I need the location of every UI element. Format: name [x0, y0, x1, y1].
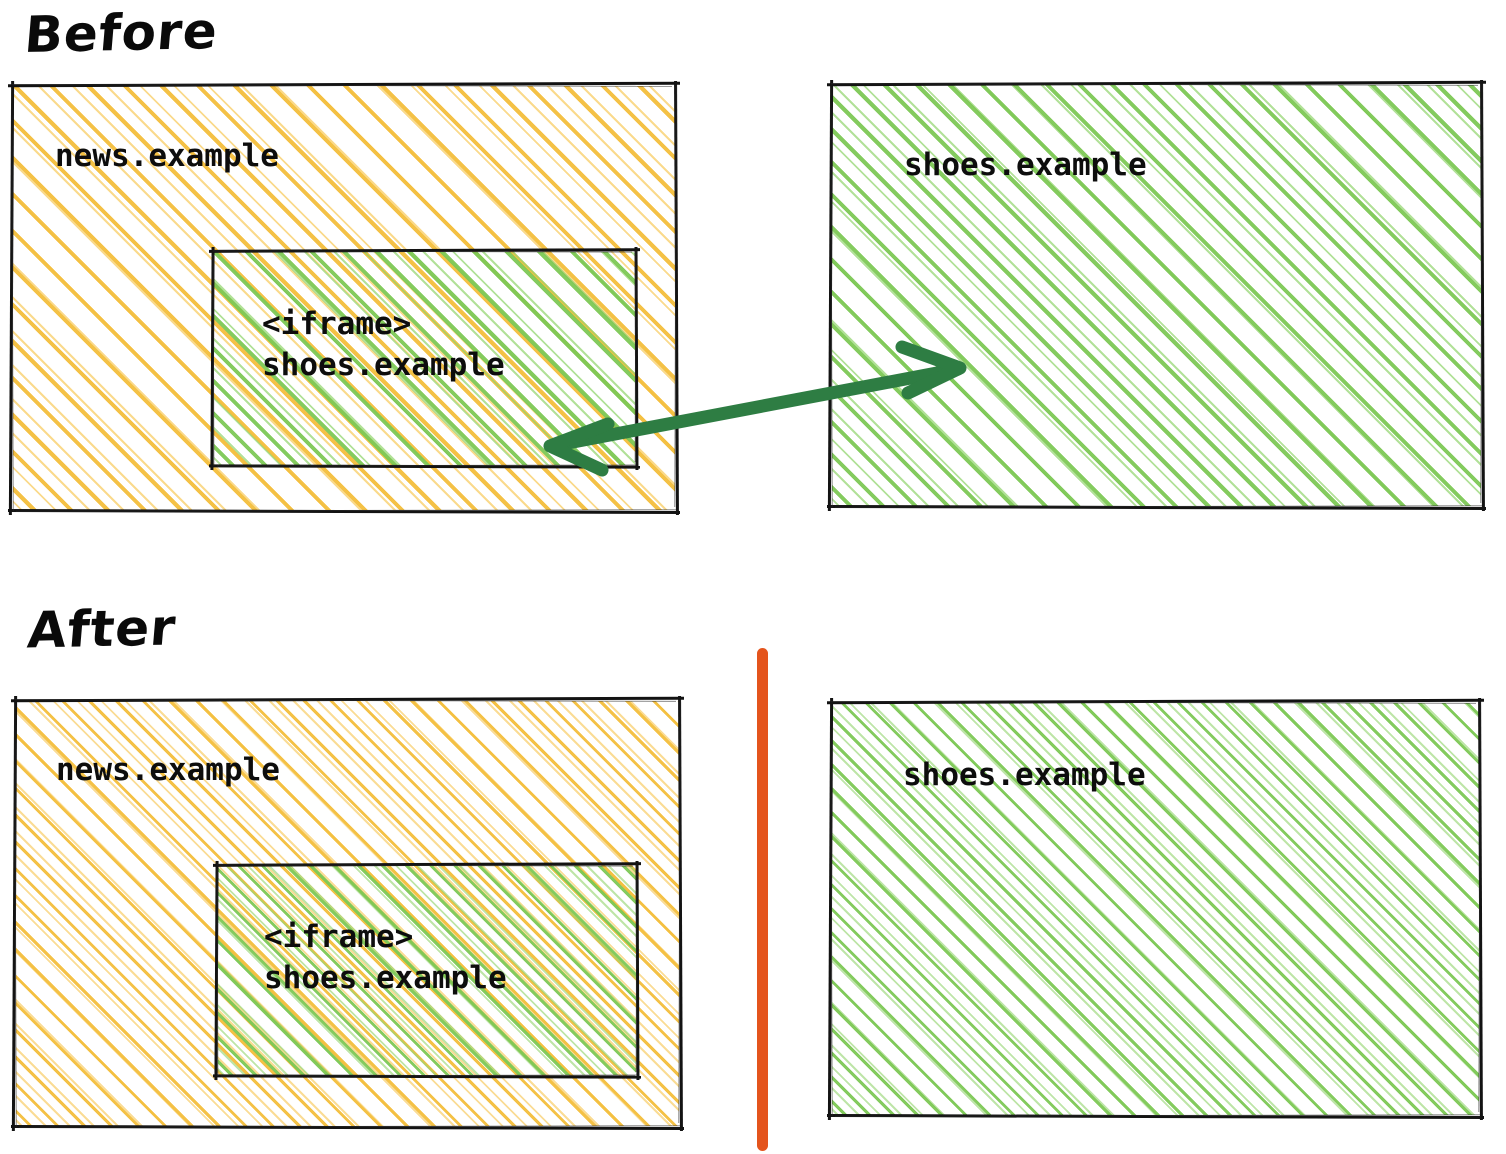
after-iframe-label: <iframe> shoes.example	[264, 917, 507, 999]
diagram-canvas: Before news.example <iframe> shoes.examp…	[0, 0, 1506, 1154]
before-news-example-label: news.example	[55, 136, 279, 177]
shared-storage-arrow-icon	[520, 330, 1000, 480]
before-shoes-example-label: shoes.example	[904, 145, 1147, 186]
section-title-after: After	[25, 598, 178, 659]
section-title-before: Before	[22, 2, 220, 64]
before-iframe-label: <iframe> shoes.example	[262, 304, 505, 386]
after-shoes-example-label: shoes.example	[903, 755, 1146, 796]
partition-divider-bar	[757, 648, 768, 1151]
after-news-example-label: news.example	[56, 750, 280, 791]
